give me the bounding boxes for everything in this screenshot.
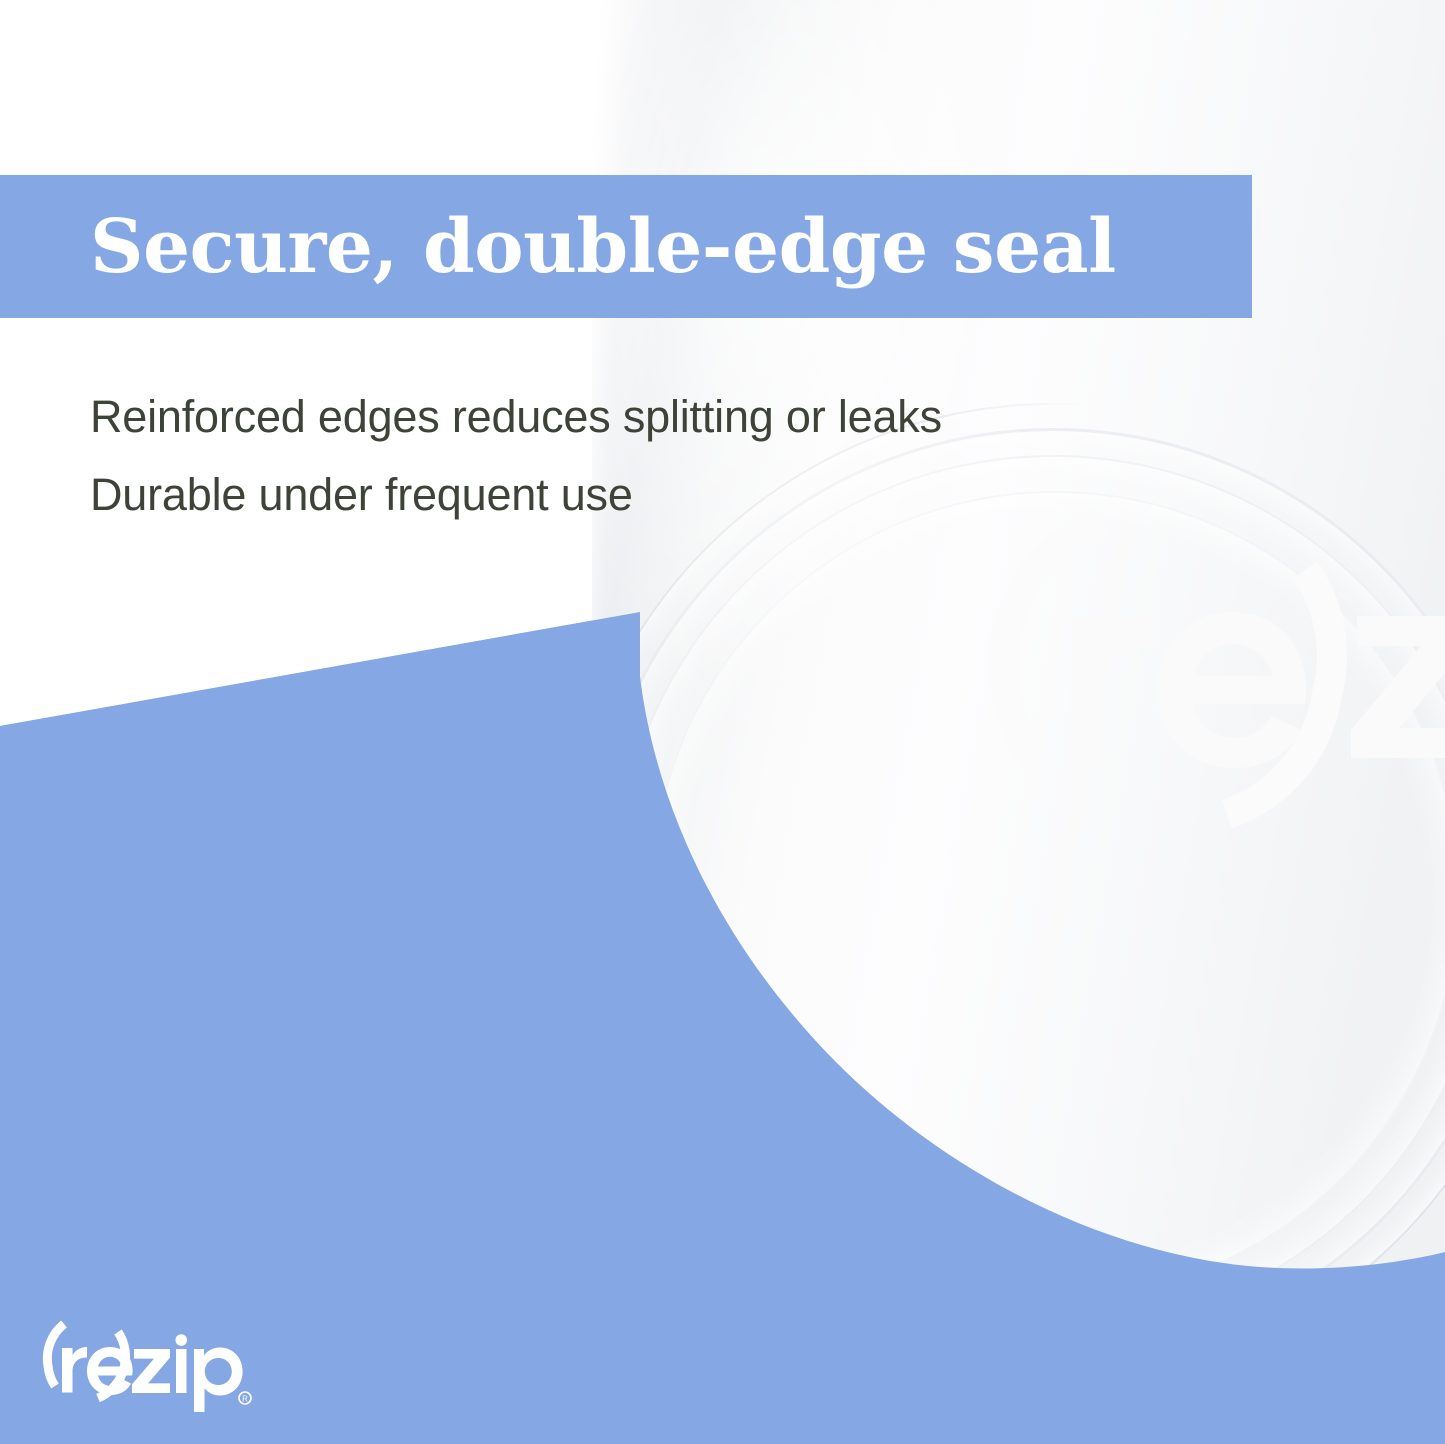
feature-bullet-2: Durable under frequent use xyxy=(90,456,1210,534)
headline-banner: Secure, double-edge seal xyxy=(0,175,1252,318)
headline-title: Secure, double-edge seal xyxy=(90,210,1116,284)
feature-bullet-1: Reinforced edges reduces splitting or le… xyxy=(90,378,1210,456)
brand-logo-rezip: R xyxy=(42,1318,252,1413)
svg-text:R: R xyxy=(242,1394,248,1403)
feature-graphic-canvas: Secure, double-edge seal Reinforced edge… xyxy=(0,0,1445,1444)
registered-trademark-icon: R xyxy=(239,1392,251,1404)
feature-bullet-list: Reinforced edges reduces splitting or le… xyxy=(90,378,1210,534)
